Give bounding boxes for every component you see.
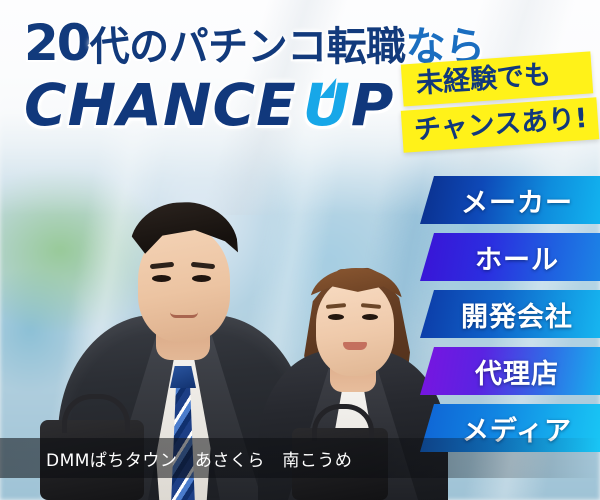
promo-badge-line-1: 未経験でも: [401, 51, 593, 106]
woman-eye-right: [362, 314, 378, 320]
woman-eye-left: [328, 314, 344, 320]
category-button-developer[interactable]: 開発会社: [420, 290, 600, 338]
headline-up-word: UP: [303, 76, 395, 134]
headline-age-number: 20: [24, 14, 90, 72]
woman-head: [316, 278, 394, 376]
category-button-maker[interactable]: メーカー: [420, 176, 600, 224]
headline-chance-word: CHANCE: [24, 71, 297, 139]
credit-bar: DMMぱちタウン あさくら 南こうめ: [0, 438, 600, 478]
category-button-hall[interactable]: ホール: [420, 233, 600, 281]
man-eye-right: [192, 275, 211, 282]
headline-block: 20代のパチンコ転職なら CHANCEUP: [24, 18, 454, 134]
headline-line-1-body: 代のパチンコ転職: [90, 24, 406, 70]
ad-banner[interactable]: 20代のパチンコ転職なら CHANCEUP 未経験でも チャンスあり! メーカー…: [0, 0, 600, 500]
headline-up-p: P: [351, 71, 395, 139]
headline-line-1: 20代のパチンコ転職なら: [24, 18, 454, 68]
category-button-agency[interactable]: 代理店: [420, 347, 600, 395]
woman-mouth: [343, 342, 367, 350]
man-mouth: [170, 312, 198, 318]
headline-line-2: CHANCEUP: [24, 76, 454, 134]
up-arrow-icon: [319, 78, 336, 98]
man-eye-left: [152, 275, 171, 282]
category-list: メーカー ホール 開発会社 代理店 メディア: [420, 176, 600, 452]
promo-badge: 未経験でも チャンスあり!: [402, 58, 598, 146]
promo-badge-line-2: チャンスあり!: [401, 97, 599, 153]
